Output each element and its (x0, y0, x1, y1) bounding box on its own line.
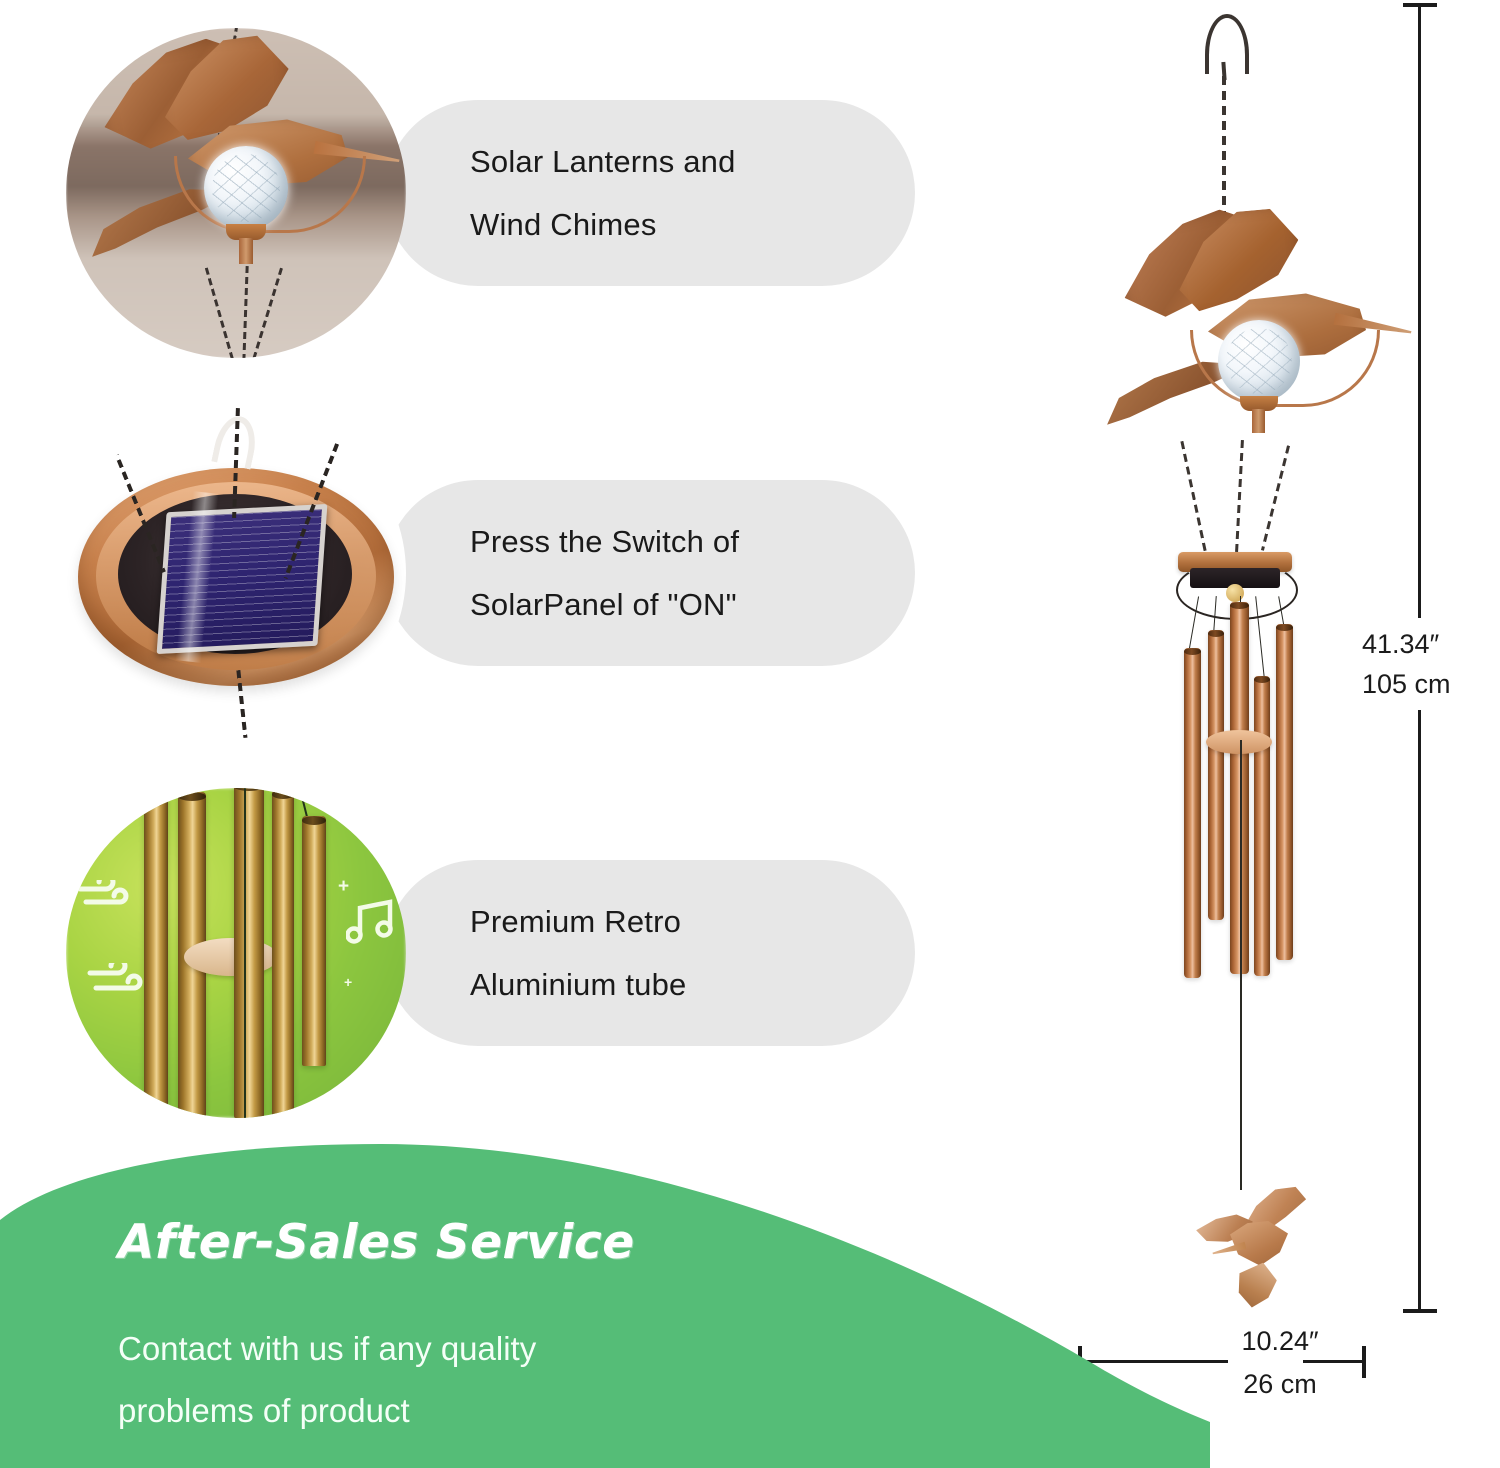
sparkle-plus-icon: + (338, 876, 349, 898)
feature-label-line-1: Solar Lanterns and (470, 130, 900, 193)
ball-stem (239, 238, 253, 264)
dimension-height-cm: 105 cm (1362, 664, 1482, 704)
chime-tube (272, 790, 294, 1118)
crackle-glass-ball-icon (1218, 320, 1300, 402)
feature-label-line-2: SolarPanel of "ON" (470, 573, 900, 636)
sparkle-plus-icon: + (344, 974, 352, 990)
dimension-height-label: 41.34″ 105 cm (1362, 618, 1482, 710)
chime-tube (1184, 648, 1201, 978)
ball-stem (1252, 409, 1265, 433)
feature-photo-chime-tubes: + + (66, 788, 406, 1118)
string-line (244, 788, 246, 1118)
feature-label-text: Press the Switch of SolarPanel of "ON" (470, 510, 900, 636)
feature-label-pill: Press the Switch of SolarPanel of "ON" (385, 480, 915, 666)
chime-tube (302, 816, 326, 1066)
chime-tube (1208, 630, 1224, 920)
chime-tube (144, 788, 168, 1114)
dimension-height-inches: 41.34″ (1362, 624, 1482, 664)
hummingbird-lantern (1090, 210, 1390, 470)
feature-label-text: Premium Retro Aluminium tube (470, 890, 900, 1016)
chime-tube (1276, 624, 1293, 960)
wind-swirl-icon (86, 963, 154, 1006)
after-sales-body: Contact with us if any quality problems … (118, 1318, 738, 1442)
feature-label-pill: Solar Lanterns and Wind Chimes (385, 100, 915, 286)
s-hook-icon (1205, 14, 1249, 74)
after-sales-title: After-Sales Service (118, 1215, 635, 1270)
feature-label-line-2: Aluminium tube (470, 953, 900, 1016)
feature-photo-solar-panel (66, 408, 406, 738)
chime-tube (1254, 676, 1270, 976)
feature-label-text: Solar Lanterns and Wind Chimes (470, 130, 900, 256)
music-note-icon (346, 898, 400, 951)
after-sales-body-line-1: Contact with us if any quality (118, 1318, 738, 1380)
feature-row-solar-panel-switch: Press the Switch of SolarPanel of "ON" (0, 408, 960, 738)
feature-photo-hummingbird-lantern (66, 28, 406, 358)
after-sales-body-line-2: problems of product (118, 1380, 738, 1442)
feature-label-line-1: Press the Switch of (470, 510, 900, 573)
feature-label-line-1: Premium Retro (470, 890, 900, 953)
wind-catcher-disc (1206, 730, 1272, 754)
crackle-glass-ball-icon (204, 146, 288, 230)
wind-swirl-icon (76, 880, 138, 923)
feature-row-solar-lanterns: Solar Lanterns and Wind Chimes (0, 28, 960, 358)
feature-label-line-2: Wind Chimes (470, 193, 900, 256)
infographic-canvas: Solar Lanterns and Wind Chimes Press the… (0, 0, 1500, 1468)
chime-tube (234, 788, 264, 1118)
feature-row-aluminium-tube: Premium Retro Aluminium tube (0, 788, 960, 1118)
dimension-cap-top (1403, 3, 1437, 7)
feature-label-pill: Premium Retro Aluminium tube (385, 860, 915, 1046)
